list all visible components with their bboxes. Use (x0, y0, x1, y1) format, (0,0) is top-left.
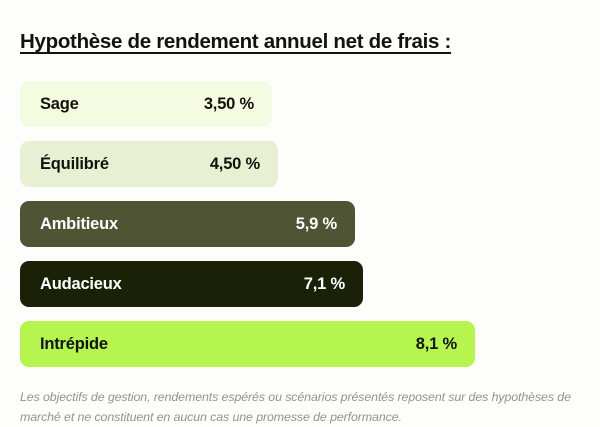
disclaimer-line-1: Les objectifs de gestion, rendements esp… (20, 387, 600, 407)
bar-value: 3,50 % (204, 95, 254, 114)
bar-row-sage: Sage 3,50 % (20, 81, 272, 127)
disclaimer-footnote: Les objectifs de gestion, rendements esp… (20, 387, 600, 427)
disclaimer-line-2: marché et ne constituent en aucun cas un… (20, 407, 600, 427)
profile-returns-bar-chart: Sage 3,50 % Équilibré 4,50 % Ambitieux 5… (20, 81, 580, 381)
page-title: Hypothèse de rendement annuel net de fra… (20, 30, 451, 54)
bar-value: 5,9 % (296, 215, 337, 234)
bar-label: Ambitieux (40, 215, 118, 234)
bar-label: Équilibré (40, 155, 109, 174)
bar-value: 4,50 % (210, 155, 260, 174)
bar-row-audacieux: Audacieux 7,1 % (20, 261, 363, 307)
bar-row-equilibre: Équilibré 4,50 % (20, 141, 278, 187)
returns-hypothesis-panel: Hypothèse de rendement annuel net de fra… (0, 0, 600, 425)
bar-value: 8,1 % (416, 335, 457, 354)
bar-label: Sage (40, 95, 79, 114)
bar-label: Audacieux (40, 275, 122, 294)
bar-row-intrepide: Intrépide 8,1 % (20, 321, 475, 367)
bar-label: Intrépide (40, 335, 108, 354)
bar-value: 7,1 % (304, 275, 345, 294)
bar-row-ambitieux: Ambitieux 5,9 % (20, 201, 355, 247)
